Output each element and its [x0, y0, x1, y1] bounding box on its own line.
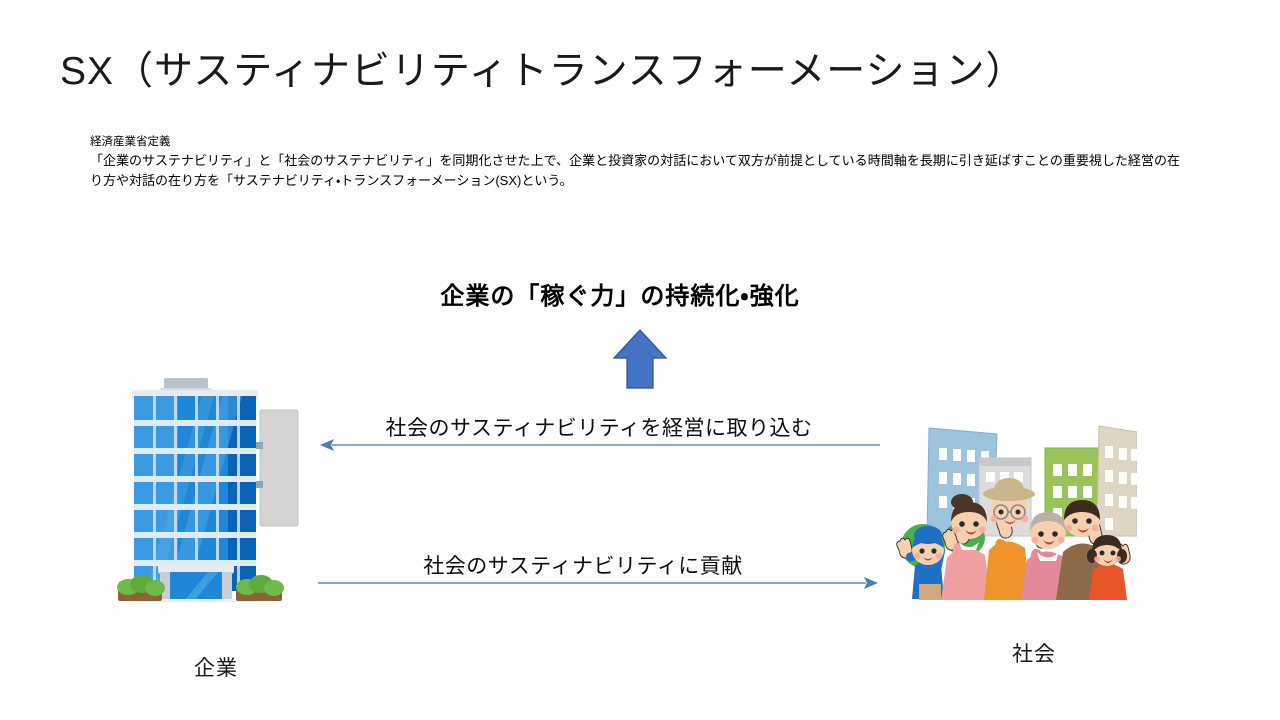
office-building-illustration	[110, 376, 318, 624]
definition-block: 経済産業省定義 「企業のサステナビリティ」と「社会のサステナビリティ」を同期化さ…	[90, 134, 1180, 190]
flow-arrow-contribute-line	[318, 572, 880, 594]
slide-canvas: SX（サスティナビリティトランスフォーメーション） 経済産業省定義 「企業のサス…	[0, 0, 1280, 720]
definition-body-text: 「企業のサステナビリティ」と「社会のサステナビリティ」を同期化させた上で、企業と…	[90, 151, 1180, 190]
headline-text: 企業の「稼ぐ力」の持続化・強化	[440, 283, 799, 310]
flow-arrow-incorporate: 社会のサスティナビリティを経営に取り込む	[318, 412, 880, 442]
headline: 企業の「稼ぐ力」の持続化・強化	[0, 276, 1280, 311]
caption-society: 社会	[1012, 638, 1056, 668]
flow-arrow-incorporate-line	[318, 434, 880, 456]
community-people-illustration	[893, 418, 1137, 600]
up-arrow-icon	[612, 328, 668, 390]
caption-company: 企業	[194, 652, 238, 682]
page-title: SX（サスティナビリティトランスフォーメーション）	[60, 40, 1025, 96]
flow-arrow-contribute: 社会のサスティナビリティに貢献	[318, 550, 880, 580]
definition-source-label: 経済産業省定義	[90, 134, 1180, 151]
